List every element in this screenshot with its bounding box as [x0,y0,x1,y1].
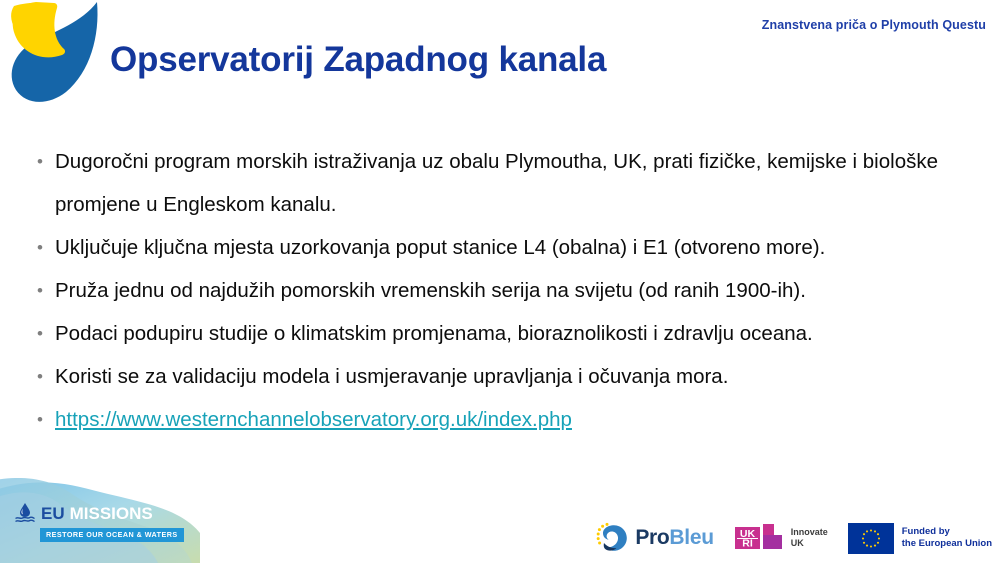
eu-missions-missions-word: MISSIONS [70,505,153,522]
bullet-dot-icon: • [30,269,55,312]
list-item-text-wrapper: https://www.westernchannelobservatory.or… [55,398,980,441]
list-item: • Uključuje ključna mjesta uzorkovanja p… [30,226,980,269]
eu-funding-label-line1: Funded by [902,526,992,538]
bullet-dot-icon: • [30,312,55,355]
list-item-text: Koristi se za validaciju modela i usmjer… [55,355,980,398]
eu-funding-logo: Funded by the European Union [848,523,992,554]
water-drop-waves-icon [14,502,36,524]
footer-logo-strip: ProBleu UK RI Innovate UK [595,521,992,555]
eu-missions-lockup: EU MISSIONS RESTORE OUR OCEAN & WATERS [14,502,189,542]
ukri-innovate-uk-logo: UK RI Innovate UK [734,522,828,554]
probleu-wordmark: ProBleu [635,526,713,550]
probleu-logo: ProBleu [595,521,713,555]
svg-text:RI: RI [742,538,753,550]
list-item-text: Dugoročni program morskih istraživanja u… [55,140,980,226]
bullet-dot-icon: • [30,226,55,269]
bullet-dot-icon: • [30,398,55,441]
eu-missions-wordmark-row: EU MISSIONS [14,502,189,524]
innovate-uk-label-line1: Innovate [791,527,828,538]
probleu-word-pro: Pro [635,526,669,549]
eu-funding-label-line2: the European Union [902,538,992,550]
list-item-text: Uključuje ključna mjesta uzorkovanja pop… [55,226,980,269]
western-channel-observatory-link[interactable]: https://www.westernchannelobservatory.or… [55,408,572,431]
page-title: Opservatorij Zapadnog kanala [110,40,606,80]
eu-missions-logo: EU MISSIONS RESTORE OUR OCEAN & WATERS [0,478,200,563]
list-item: • Koristi se za validaciju modela i usmj… [30,355,980,398]
list-item-link: • https://www.westernchannelobservatory.… [30,398,980,441]
eu-missions-tagline: RESTORE OUR OCEAN & WATERS [40,528,184,542]
list-item: • Dugoročni program morskih istraživanja… [30,140,980,226]
bullet-dot-icon: • [30,355,55,398]
brand-logo-mark [4,0,110,108]
bullet-list: • Dugoročni program morskih istraživanja… [30,140,980,441]
header-eyebrow-text: Znanstvena priča o Plymouth Questu [762,18,986,32]
list-item-text: Pruža jednu od najdužih pomorskih vremen… [55,269,980,312]
ukri-mark-icon: UK RI [734,522,784,554]
eu-funding-label: Funded by the European Union [902,526,992,551]
probleu-word-bleu: Bleu [669,526,713,549]
innovate-uk-label: Innovate UK [791,527,828,550]
innovate-uk-label-line2: UK [791,538,828,549]
eu-flag-icon [848,523,894,554]
eu-missions-eu-word: EU [41,505,65,522]
list-item-text: Podaci podupiru studije o klimatskim pro… [55,312,980,355]
probleu-mark-icon [595,521,629,555]
bullet-dot-icon: • [30,140,55,183]
list-item: • Pruža jednu od najdužih pomorskih vrem… [30,269,980,312]
list-item: • Podaci podupiru studije o klimatskim p… [30,312,980,355]
